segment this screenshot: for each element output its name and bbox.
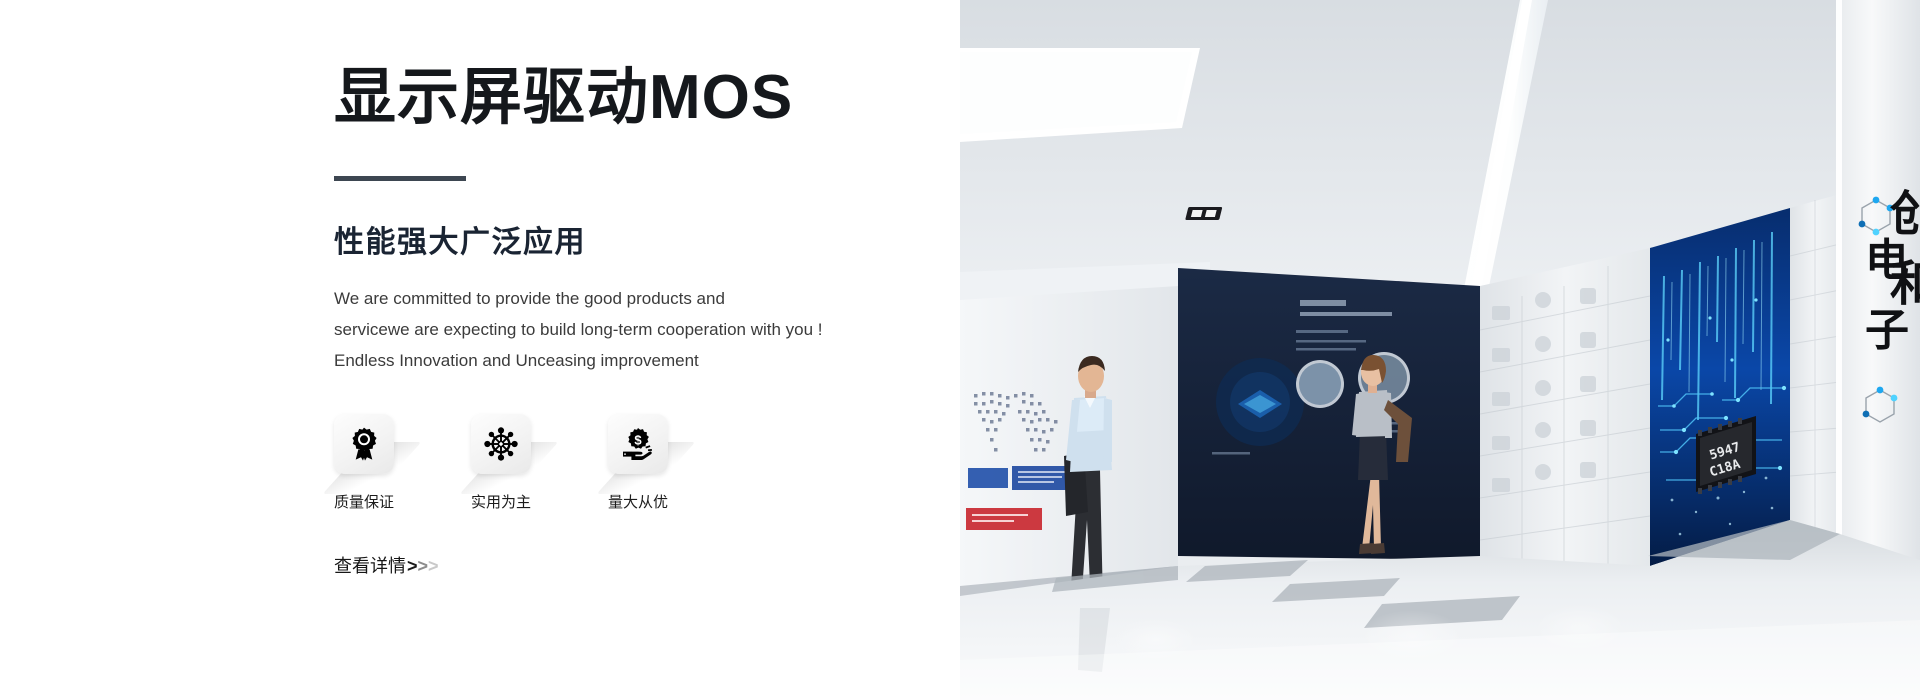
- sign-char-chuang: 创: [1890, 186, 1920, 242]
- feature-item-bulk-discount: $ 量大从优: [608, 414, 690, 512]
- showroom-illustration: 5947 C18A: [960, 0, 1920, 700]
- feature-label-bulk-discount: 量大从优: [608, 491, 690, 512]
- banner-content: 显示屏驱动MOS 性能强大广泛应用 We are committed to pr…: [334, 62, 934, 578]
- hand-money-icon: $: [620, 426, 656, 462]
- award-badge-icon-tile: [334, 414, 394, 474]
- description-line-3: Endless Innovation and Unceasing improve…: [334, 345, 934, 376]
- svg-text:$: $: [634, 433, 642, 448]
- chevron-right-icon-2: >: [418, 557, 429, 575]
- feature-item-practical: 实用为主: [471, 414, 553, 512]
- feature-list: 质量保证: [334, 414, 934, 512]
- relief-tile-wall-left: [1480, 248, 1650, 580]
- description-line-1: We are committed to provide the good pro…: [334, 283, 934, 314]
- view-details-link[interactable]: 查看详情 > > >: [334, 552, 439, 578]
- wall-edge-light: [1836, 0, 1842, 620]
- banner-description: We are committed to provide the good pro…: [334, 283, 934, 376]
- led-video-wall: 5947 C18A: [1650, 208, 1790, 566]
- network-hub-icon-tile: [471, 414, 531, 474]
- banner-subtitle: 性能强大广泛应用: [334, 217, 934, 261]
- chevron-right-icon-group: > > >: [407, 557, 439, 575]
- network-hub-icon: [483, 426, 519, 462]
- feature-label-quality: 质量保证: [334, 491, 416, 512]
- view-details-label: 查看详情: [334, 552, 406, 578]
- feature-label-practical: 实用为主: [471, 491, 553, 512]
- sign-char-zi: 子: [1865, 305, 1909, 356]
- feature-item-quality: 质量保证: [334, 414, 416, 512]
- award-badge-icon: [346, 426, 382, 462]
- hero-banner: 显示屏驱动MOS 性能强大广泛应用 We are committed to pr…: [0, 0, 1920, 700]
- chevron-right-icon-1: >: [407, 557, 418, 575]
- showroom-photo: 5947 C18A: [960, 0, 1920, 700]
- chevron-right-icon-3: >: [428, 557, 439, 575]
- description-line-2: servicewe are expecting to build long-te…: [334, 314, 934, 345]
- banner-text-panel: 显示屏驱动MOS 性能强大广泛应用 We are committed to pr…: [0, 0, 960, 700]
- sign-char-he: 和: [1890, 256, 1920, 312]
- page-title: 显示屏驱动MOS: [334, 62, 934, 133]
- ceiling-skylight: [960, 48, 1200, 142]
- title-divider: [334, 176, 466, 181]
- hand-money-icon-tile: $: [608, 414, 668, 474]
